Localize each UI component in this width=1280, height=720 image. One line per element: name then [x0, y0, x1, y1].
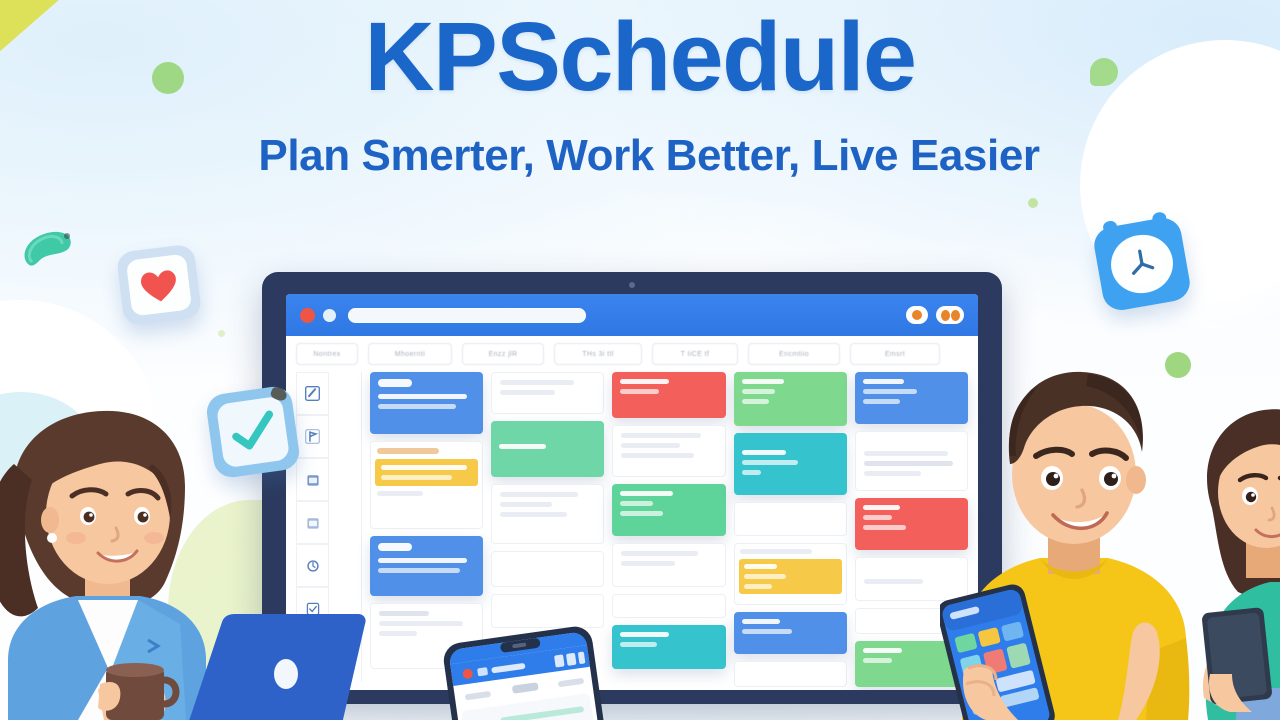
card-line — [742, 389, 775, 394]
browser-title-bar — [286, 294, 978, 336]
event-card-plain-10[interactable] — [734, 661, 847, 687]
event-card-blue-3[interactable] — [734, 612, 847, 654]
card-line — [500, 492, 578, 497]
page-tagline: Plan Smerter, Work Better, Live Easier — [9, 131, 1280, 181]
user-circle-icon[interactable] — [906, 306, 928, 324]
toolbar-button-5[interactable]: T IiCE tf — [652, 343, 738, 365]
accent-dot-1 — [152, 62, 184, 94]
card-line — [863, 505, 900, 510]
card-line — [621, 453, 693, 458]
url-input[interactable] — [348, 308, 586, 323]
card-line — [744, 564, 778, 569]
app-window: Nontrex Mhoernti Enzz jlR THs 3i ttl T I… — [286, 294, 978, 690]
clock-badge — [1091, 215, 1192, 313]
headline-block: KPSchedule Plan Smerter, Work Better, Li… — [0, 8, 1280, 181]
corner-triangle-topright — [1218, 96, 1280, 206]
check-icon — [223, 404, 283, 459]
card-line — [381, 475, 452, 480]
card-line — [742, 470, 761, 475]
card-line — [744, 584, 772, 589]
front-phone — [430, 626, 620, 720]
card-line — [742, 460, 798, 465]
calendar-board — [286, 370, 978, 690]
event-card-red[interactable] — [612, 372, 725, 418]
card-line — [620, 379, 669, 384]
event-card-plain-9[interactable] — [734, 502, 847, 536]
card-line — [744, 574, 787, 579]
toolbar-button-4[interactable]: THs 3i ttl — [554, 343, 642, 365]
card-line — [620, 642, 657, 647]
card-line — [863, 515, 892, 520]
toolbar-button-6[interactable]: Encmtiio — [748, 343, 840, 365]
event-card-blue[interactable] — [370, 372, 483, 434]
board-column-3 — [612, 372, 725, 682]
accent-dot-4 — [1028, 198, 1038, 208]
toolbar-button-1[interactable]: Nontrex — [296, 343, 358, 365]
close-dot[interactable] — [300, 308, 315, 323]
card-line — [863, 658, 892, 663]
heart-badge-plate — [126, 253, 192, 316]
card-line — [621, 551, 697, 556]
card-line — [379, 611, 429, 616]
event-card-yellow-wrap[interactable] — [370, 441, 483, 529]
clock-badge-plate — [1107, 230, 1178, 299]
card-line — [863, 525, 906, 530]
event-card-plain-8[interactable] — [612, 594, 725, 618]
card-line — [864, 451, 948, 456]
card-line — [620, 511, 663, 516]
card-badge — [378, 543, 412, 551]
card-line — [863, 399, 900, 404]
card-line — [742, 399, 769, 404]
card-line — [621, 561, 674, 566]
card-line — [378, 404, 456, 409]
accent-dot-2 — [1090, 58, 1118, 86]
event-card-plain-5[interactable] — [491, 594, 604, 628]
event-card-teal[interactable] — [612, 625, 725, 669]
card-line — [620, 491, 672, 496]
event-card-green[interactable] — [612, 484, 725, 536]
laptop-mockup: Nontrex Mhoernti Enzz jlR THs 3i ttl T I… — [262, 272, 1002, 704]
toolbar-button-3[interactable]: Enzz jlR — [462, 343, 544, 365]
grid-apps-icon[interactable] — [936, 306, 964, 324]
card-line — [377, 448, 439, 454]
card-line — [500, 512, 567, 517]
app-toolbar: Nontrex Mhoernti Enzz jlR THs 3i ttl T I… — [286, 336, 978, 370]
card-line — [499, 444, 546, 449]
card-line — [864, 579, 923, 584]
laptop-camera — [629, 282, 635, 288]
card-line — [621, 443, 680, 448]
card-line — [378, 558, 467, 563]
heart-badge — [116, 244, 202, 327]
card-line — [864, 471, 921, 476]
card-line — [500, 380, 574, 385]
event-card-plain-6[interactable] — [612, 425, 725, 477]
event-card-plain-4[interactable] — [491, 551, 604, 587]
card-line — [378, 568, 460, 573]
clock-bell-right — [1151, 211, 1167, 225]
card-badge — [378, 379, 412, 387]
card-line — [500, 502, 551, 507]
card-line — [740, 549, 813, 554]
event-card-plain-7[interactable] — [612, 543, 725, 587]
card-line — [742, 629, 793, 634]
event-card-plain-3[interactable] — [491, 484, 604, 544]
card-line — [742, 450, 787, 455]
woman-with-tablet — [1192, 388, 1280, 720]
card-line — [620, 632, 669, 637]
clock-bell-left — [1102, 220, 1118, 234]
event-card-teal-2[interactable] — [734, 433, 847, 495]
accent-dot-7 — [218, 330, 225, 337]
droplet-icon — [18, 222, 78, 272]
card-line — [620, 389, 659, 394]
page-title: KPSchedule — [0, 8, 1280, 107]
event-card-blue-2[interactable] — [370, 536, 483, 596]
event-card-yellow-wrap-2[interactable] — [734, 543, 847, 605]
alarm-clock-icon — [1114, 236, 1170, 292]
heart-icon — [135, 262, 184, 307]
event-card-green-2[interactable] — [734, 372, 847, 426]
card-line — [379, 631, 417, 636]
toolbar-button-7[interactable]: Emsrt — [850, 343, 940, 365]
card-line — [500, 390, 555, 395]
card-line — [863, 379, 904, 384]
minimize-dot[interactable] — [323, 309, 336, 322]
card-line — [621, 433, 701, 438]
check-badge — [205, 384, 302, 479]
toolbar-button-2[interactable]: Mhoernti — [368, 343, 452, 365]
card-line — [381, 465, 467, 470]
corner-triangle-topleft — [0, 0, 84, 74]
poster-canvas: KPSchedule Plan Smerter, Work Better, Li… — [0, 0, 1280, 720]
card-line — [378, 394, 467, 399]
card-line — [742, 619, 781, 624]
card-line — [742, 379, 785, 384]
card-line — [863, 389, 917, 394]
woman-laptop-device — [182, 612, 367, 720]
board-column-4 — [734, 372, 847, 682]
event-card-plain-2[interactable] — [491, 372, 604, 414]
card-line — [863, 648, 902, 653]
event-card-mint[interactable] — [491, 421, 604, 477]
check-badge-plate — [216, 396, 290, 468]
card-line — [620, 501, 653, 506]
card-line — [377, 491, 423, 496]
